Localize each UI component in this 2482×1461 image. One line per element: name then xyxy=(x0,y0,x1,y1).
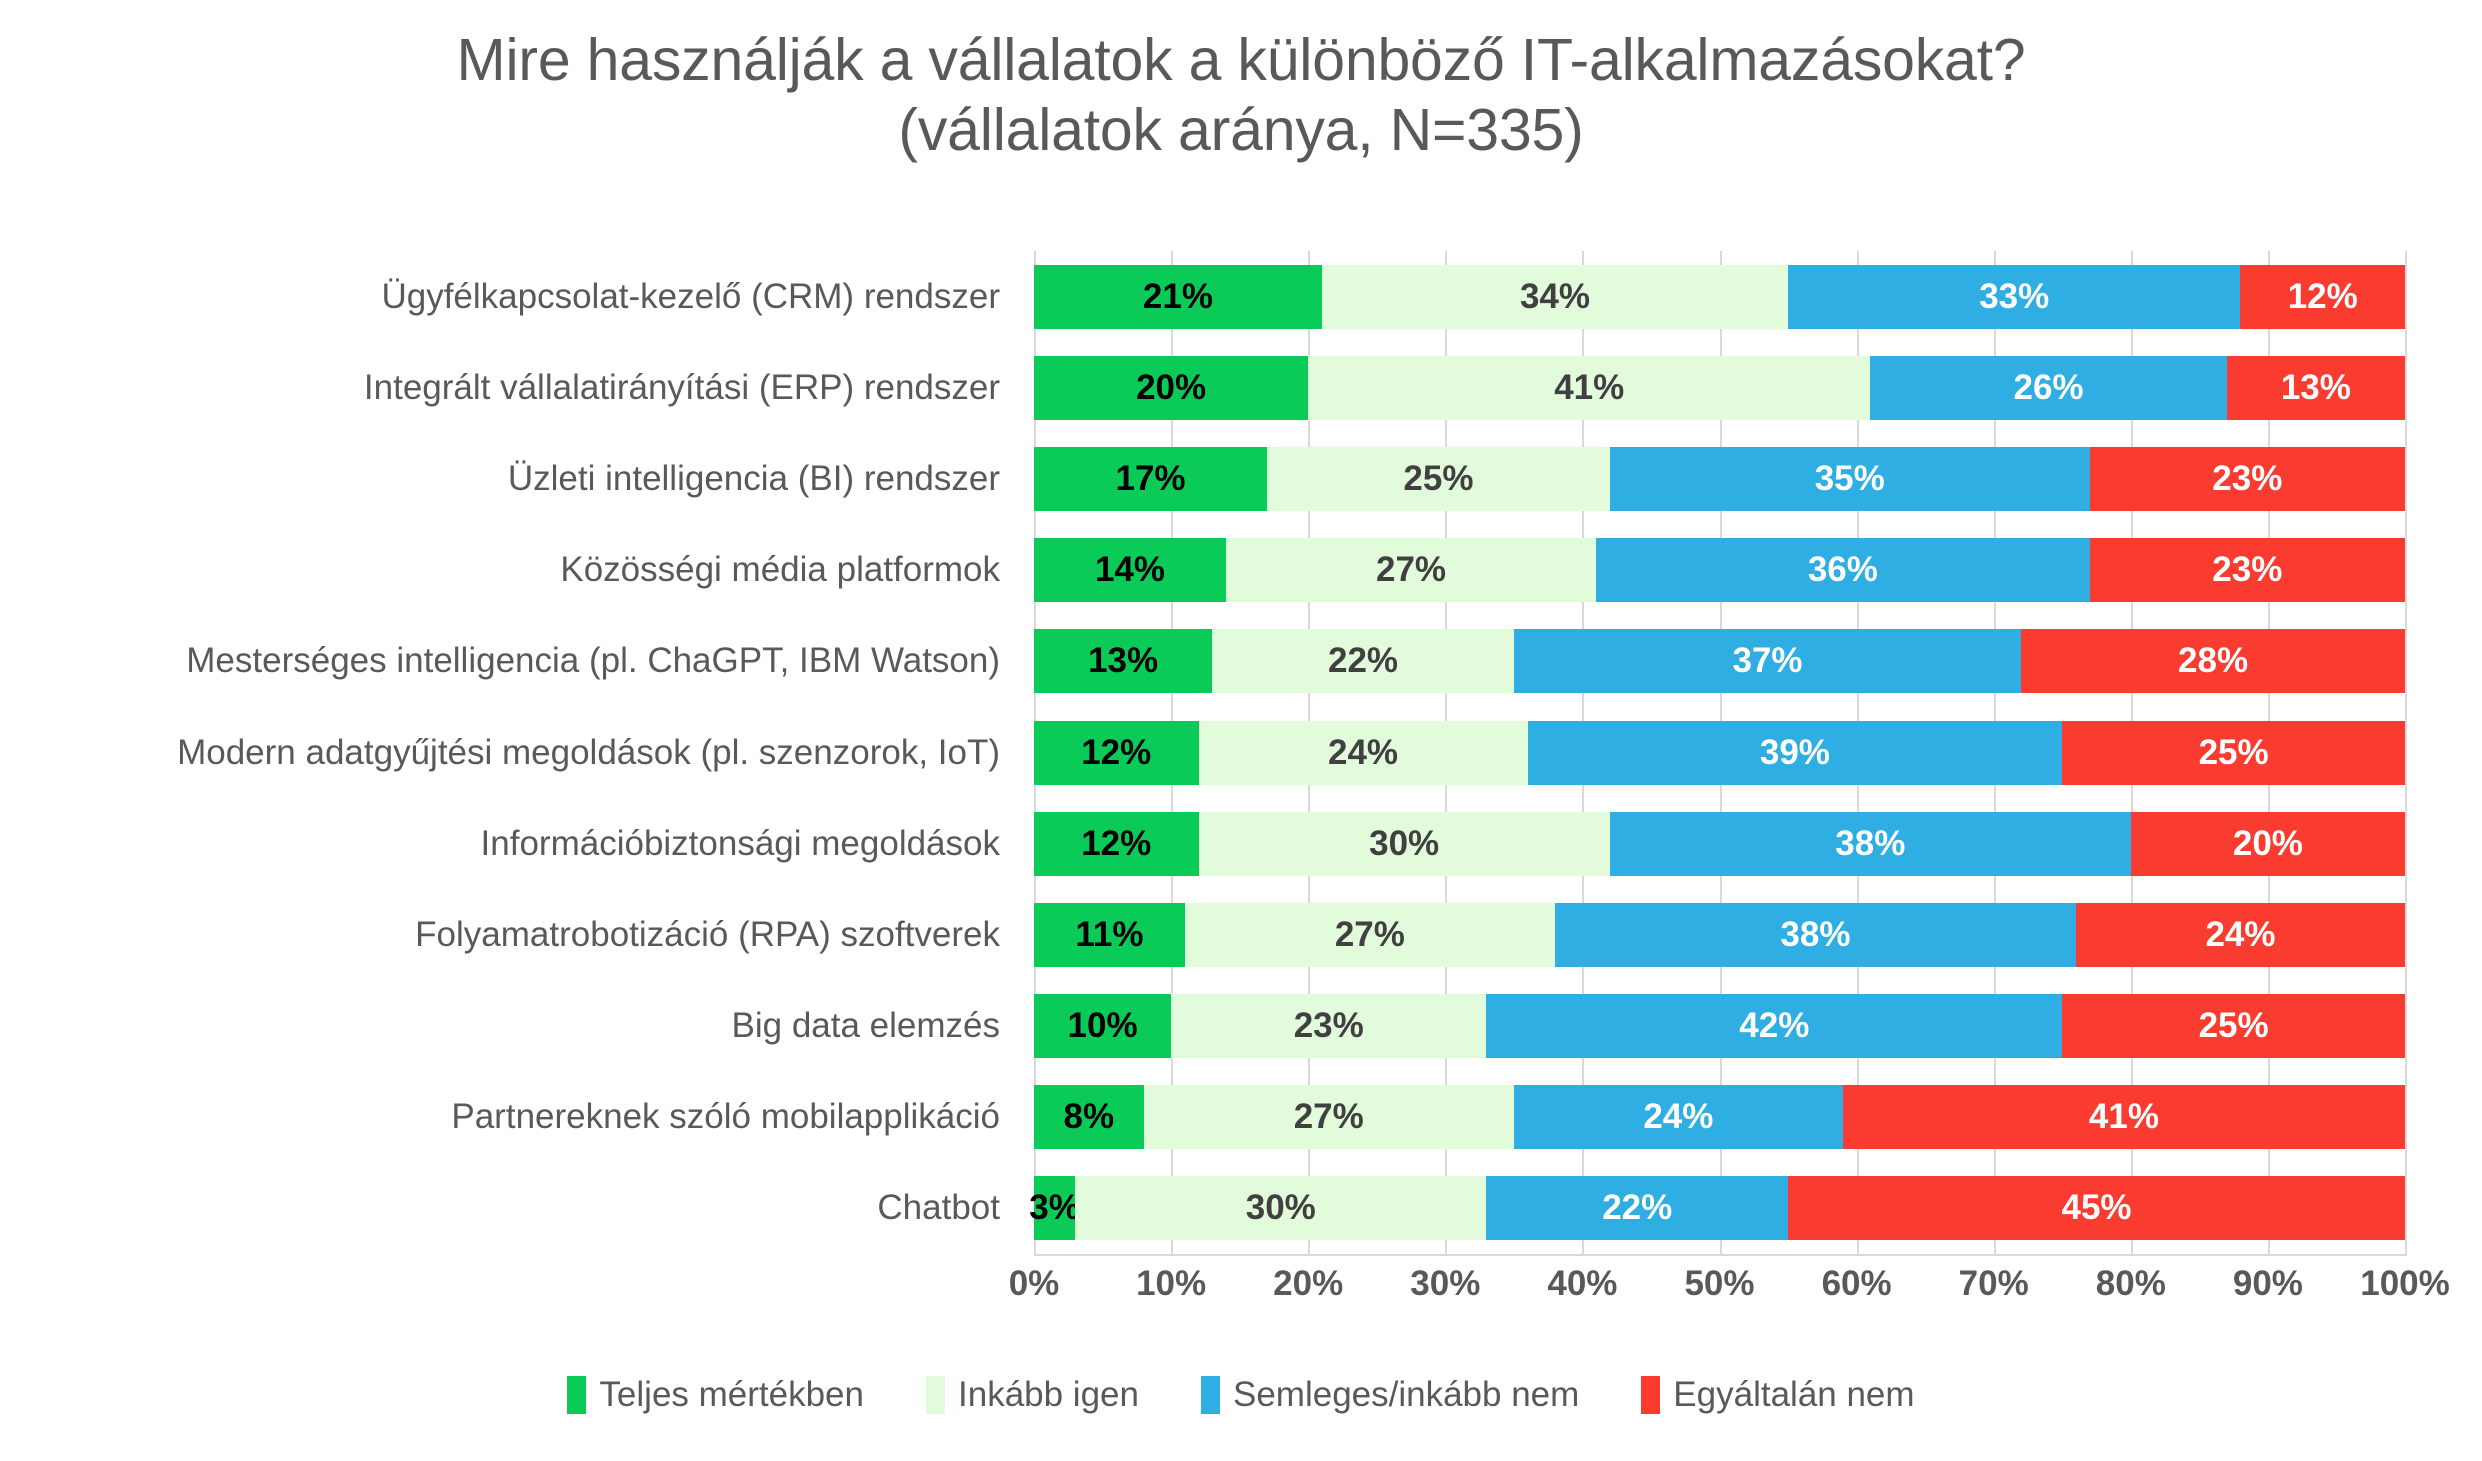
category-label: Integrált vállalatirányítási (ERP) rends… xyxy=(364,366,1000,410)
bar-segment: 30% xyxy=(1199,812,1610,876)
bar-segment-value: 33% xyxy=(1979,277,2049,317)
x-tick-label: 10% xyxy=(1136,1264,1206,1304)
x-tick-label: 40% xyxy=(1547,1264,1617,1304)
bar-segment: 12% xyxy=(1034,721,1199,785)
x-tick-label: 80% xyxy=(2096,1264,2166,1304)
plot-area: 21%34%33%12%20%41%26%13%17%25%35%23%14%2… xyxy=(1034,251,2405,1254)
bar-segment: 25% xyxy=(1267,447,1610,511)
bar-segment-value: 10% xyxy=(1068,1006,1138,1046)
bar-segment-value: 22% xyxy=(1602,1188,1672,1228)
legend-item[interactable]: Inkább igen xyxy=(926,1375,1139,1415)
bar-segment-value: 41% xyxy=(2089,1097,2159,1137)
bar-segment-value: 12% xyxy=(1081,733,1151,773)
x-tick-label: 20% xyxy=(1273,1264,1343,1304)
bar-segment-value: 20% xyxy=(1136,368,1206,408)
category-label: Big data elemzés xyxy=(732,1004,1000,1048)
bar-segment: 3% xyxy=(1034,1176,1075,1240)
category-label: Partnereknek szóló mobilapplikáció xyxy=(451,1095,1000,1139)
legend-swatch-icon xyxy=(567,1376,586,1414)
bar-segment: 23% xyxy=(2090,538,2405,602)
bar-row: 20%41%26%13% xyxy=(1034,356,2405,420)
bar-segment: 10% xyxy=(1034,994,1171,1058)
bar-segment: 35% xyxy=(1610,447,2090,511)
bar-segment: 27% xyxy=(1144,1085,1514,1149)
bar-segment-value: 30% xyxy=(1246,1188,1316,1228)
bar-segment: 8% xyxy=(1034,1085,1144,1149)
x-tick-label: 100% xyxy=(2360,1264,2450,1304)
category-axis-labels: Ügyfélkapcsolat-kezelő (CRM) rendszerInt… xyxy=(0,251,1018,1254)
bar-segment-value: 34% xyxy=(1520,277,1590,317)
gridline xyxy=(2405,251,2407,1254)
bar-segment-value: 38% xyxy=(1780,915,1850,955)
bar-segment: 25% xyxy=(2062,721,2405,785)
category-label: Mesterséges intelligencia (pl. ChaGPT, I… xyxy=(186,639,1000,683)
bar-segment-value: 12% xyxy=(2288,277,2358,317)
bar-segment-value: 12% xyxy=(1081,824,1151,864)
bar-segment-value: 25% xyxy=(2199,733,2269,773)
legend-swatch-icon xyxy=(1641,1376,1660,1414)
legend-label: Teljes mértékben xyxy=(599,1375,864,1415)
bar-segment-value: 39% xyxy=(1760,733,1830,773)
bar-segment: 25% xyxy=(2062,994,2405,1058)
bar-segment-value: 30% xyxy=(1369,824,1439,864)
bar-segment: 12% xyxy=(1034,812,1199,876)
bar-segment-value: 45% xyxy=(2061,1188,2131,1228)
bar-segment-value: 13% xyxy=(1088,641,1158,681)
category-label: Közösségi média platformok xyxy=(560,548,1000,592)
x-tick-label: 70% xyxy=(1959,1264,2029,1304)
bar-segment-value: 17% xyxy=(1116,459,1186,499)
bar-row: 12%30%38%20% xyxy=(1034,812,2405,876)
bar-segment: 27% xyxy=(1226,538,1596,602)
bar-segment: 20% xyxy=(1034,356,1308,420)
x-tick-label: 30% xyxy=(1410,1264,1480,1304)
bar-segment-value: 24% xyxy=(1643,1097,1713,1137)
bar-segment-value: 11% xyxy=(1075,915,1143,955)
bar-segment: 24% xyxy=(1199,721,1528,785)
bar-segment: 36% xyxy=(1596,538,2090,602)
bar-segment-value: 22% xyxy=(1328,641,1398,681)
bar-segment-value: 14% xyxy=(1095,550,1165,590)
bar-row: 14%27%36%23% xyxy=(1034,538,2405,602)
bar-segment-value: 23% xyxy=(2212,459,2282,499)
bar-segment: 42% xyxy=(1486,994,2062,1058)
category-label: Ügyfélkapcsolat-kezelő (CRM) rendszer xyxy=(381,275,1000,319)
bar-row: 21%34%33%12% xyxy=(1034,265,2405,329)
bar-row: 3%30%22%45% xyxy=(1034,1176,2405,1240)
bar-segment: 28% xyxy=(2021,629,2405,693)
x-tick-label: 90% xyxy=(2233,1264,2303,1304)
bar-segment-value: 27% xyxy=(1335,915,1405,955)
bar-row: 13%22%37%28% xyxy=(1034,629,2405,693)
legend-swatch-icon xyxy=(926,1376,945,1414)
legend-item[interactable]: Egyáltalán nem xyxy=(1641,1375,1914,1415)
legend-item[interactable]: Semleges/inkább nem xyxy=(1201,1375,1579,1415)
bar-segment-value: 8% xyxy=(1064,1097,1115,1137)
bar-segment: 24% xyxy=(1514,1085,1843,1149)
bar-segment-value: 38% xyxy=(1835,824,1905,864)
chart-title-subtitle: (vállalatok aránya, N=335) xyxy=(0,96,2482,166)
bar-segment: 41% xyxy=(1843,1085,2405,1149)
bar-segment: 27% xyxy=(1185,903,1555,967)
bar-segment-value: 28% xyxy=(2178,641,2248,681)
bar-segment-value: 27% xyxy=(1294,1097,1364,1137)
bar-segment: 24% xyxy=(2076,903,2405,967)
category-label: Folyamatrobotizáció (RPA) szoftverek xyxy=(415,913,1000,957)
bar-segment: 22% xyxy=(1486,1176,1788,1240)
bar-segment: 14% xyxy=(1034,538,1226,602)
legend-label: Semleges/inkább nem xyxy=(1233,1375,1579,1415)
chart-legend: Teljes mértékbenInkább igenSemleges/inká… xyxy=(0,1375,2482,1415)
chart-page: Mire használják a vállalatok a különböző… xyxy=(0,0,2482,1461)
bar-segment-value: 13% xyxy=(2281,368,2351,408)
bar-row: 12%24%39%25% xyxy=(1034,721,2405,785)
bar-segment: 26% xyxy=(1870,356,2226,420)
chart-title-line-1: Mire használják a vállalatok a különböző… xyxy=(0,26,2482,96)
category-label: Üzleti intelligencia (BI) rendszer xyxy=(508,457,1000,501)
bar-segment-value: 25% xyxy=(2199,1006,2269,1046)
bar-segment-value: 35% xyxy=(1815,459,1885,499)
category-label: Információbiztonsági megoldások xyxy=(481,822,1000,866)
bar-row: 17%25%35%23% xyxy=(1034,447,2405,511)
bar-segment-value: 24% xyxy=(1328,733,1398,773)
bar-segment: 30% xyxy=(1075,1176,1486,1240)
bar-segment: 38% xyxy=(1555,903,2076,967)
legend-label: Inkább igen xyxy=(958,1375,1139,1415)
category-label: Chatbot xyxy=(877,1186,1000,1230)
bar-segment: 39% xyxy=(1528,721,2063,785)
bar-segment-value: 25% xyxy=(1403,459,1473,499)
bar-segment-value: 24% xyxy=(2205,915,2275,955)
bar-segment: 20% xyxy=(2131,812,2405,876)
bar-segment: 34% xyxy=(1322,265,1788,329)
bar-segment: 13% xyxy=(2227,356,2405,420)
bar-segment: 45% xyxy=(1788,1176,2405,1240)
x-axis-line xyxy=(1034,1254,2407,1256)
bar-segment-value: 20% xyxy=(2233,824,2303,864)
bar-segment-value: 26% xyxy=(2013,368,2083,408)
bar-segment-value: 21% xyxy=(1143,277,1213,317)
bar-row: 10%23%42%25% xyxy=(1034,994,2405,1058)
bar-segment-value: 27% xyxy=(1376,550,1446,590)
x-tick-label: 0% xyxy=(1009,1264,1060,1304)
x-tick-label: 50% xyxy=(1684,1264,1754,1304)
bar-segment: 13% xyxy=(1034,629,1212,693)
bar-segment-value: 42% xyxy=(1739,1006,1809,1046)
bar-segment: 41% xyxy=(1308,356,1870,420)
bar-segment: 21% xyxy=(1034,265,1322,329)
bar-segment-value: 3% xyxy=(1029,1188,1080,1228)
bar-segment: 12% xyxy=(2240,265,2405,329)
bar-segment-value: 23% xyxy=(1294,1006,1364,1046)
bar-segment-value: 41% xyxy=(1554,368,1624,408)
bar-segment: 11% xyxy=(1034,903,1185,967)
bar-row: 11%27%38%24% xyxy=(1034,903,2405,967)
bar-segment-value: 23% xyxy=(2212,550,2282,590)
legend-swatch-icon xyxy=(1201,1376,1220,1414)
legend-label: Egyáltalán nem xyxy=(1673,1375,1914,1415)
bar-row: 8%27%24%41% xyxy=(1034,1085,2405,1149)
bar-segment-value: 36% xyxy=(1808,550,1878,590)
bar-segment: 37% xyxy=(1514,629,2021,693)
bar-segment: 17% xyxy=(1034,447,1267,511)
x-axis-tick-labels: 0%10%20%30%40%50%60%70%80%90%100% xyxy=(1034,1264,2405,1324)
bar-segment: 33% xyxy=(1788,265,2240,329)
category-label: Modern adatgyűjtési megoldások (pl. szen… xyxy=(177,731,1000,775)
bar-segment-value: 37% xyxy=(1732,641,1802,681)
x-tick-label: 60% xyxy=(1822,1264,1892,1304)
bar-segment: 23% xyxy=(1171,994,1486,1058)
bar-segment: 23% xyxy=(2090,447,2405,511)
legend-item[interactable]: Teljes mértékben xyxy=(567,1375,864,1415)
bar-segment: 22% xyxy=(1212,629,1514,693)
bar-segment: 38% xyxy=(1610,812,2131,876)
chart-title: Mire használják a vállalatok a különböző… xyxy=(0,26,2482,165)
